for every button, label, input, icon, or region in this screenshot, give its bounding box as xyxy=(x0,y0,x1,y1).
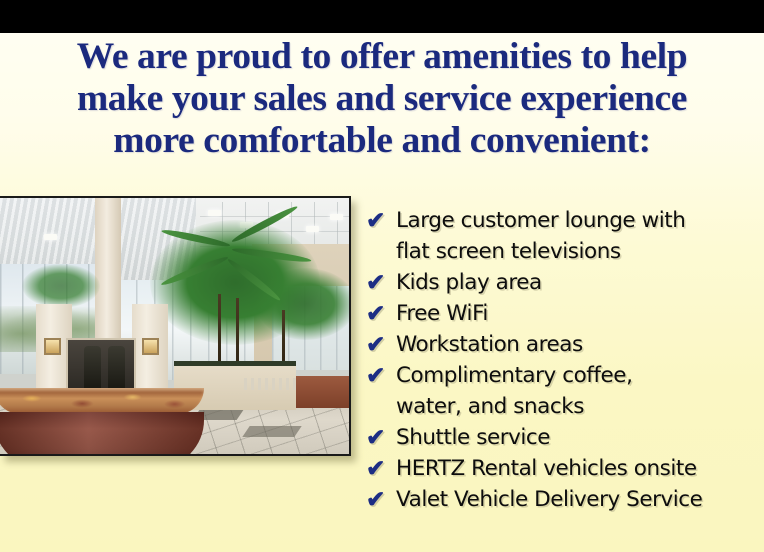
list-item: ✔ Complimentary coffee, water, and snack… xyxy=(366,360,764,422)
check-icon: ✔ xyxy=(366,422,396,453)
page-title: We are proud to offer amenities to help … xyxy=(0,36,764,162)
page-title-line-1: We are proud to offer amenities to help xyxy=(4,36,760,78)
ceiling-light-icon xyxy=(306,226,319,232)
list-item: ✔ Valet Vehicle Delivery Service xyxy=(366,484,764,515)
list-item: ✔ Shuttle service xyxy=(366,422,764,453)
list-item: ✔ Free WiFi xyxy=(366,298,764,329)
lobby-photo-image xyxy=(0,198,349,454)
list-item: ✔ Workstation areas xyxy=(366,329,764,360)
palm-trunk xyxy=(236,298,239,370)
page-title-line-3: more comfortable and convenient: xyxy=(4,120,760,162)
palm-tree-far xyxy=(256,268,349,340)
slide-canvas: We are proud to offer amenities to help … xyxy=(0,0,764,552)
list-item-label: Workstation areas xyxy=(396,329,764,360)
palm-trunk xyxy=(218,294,221,370)
ceiling-light-icon xyxy=(44,234,57,240)
decor-vase xyxy=(84,346,101,390)
check-icon: ✔ xyxy=(366,484,396,515)
list-item-label: Complimentary coffee, water, and snacks xyxy=(396,360,764,422)
check-icon: ✔ xyxy=(366,267,396,298)
list-item-label: Free WiFi xyxy=(396,298,764,329)
list-item-label: Large customer lounge with flat screen t… xyxy=(396,205,764,267)
list-item: ✔ Kids play area xyxy=(366,267,764,298)
list-item: ✔ Large customer lounge with flat screen… xyxy=(366,205,764,267)
check-icon: ✔ xyxy=(366,453,396,484)
palm-tree-left xyxy=(22,264,100,308)
check-icon: ✔ xyxy=(366,298,396,329)
reception-desk-base xyxy=(0,412,204,454)
list-item: ✔ HERTZ Rental vehicles onsite xyxy=(366,453,764,484)
wall-sconce-icon xyxy=(142,338,159,355)
amenities-list: ✔ Large customer lounge with flat screen… xyxy=(366,205,764,515)
list-item-label: HERTZ Rental vehicles onsite xyxy=(396,453,764,484)
structural-column xyxy=(95,198,121,338)
palm-trunk xyxy=(282,310,285,368)
wall-sconce-icon xyxy=(44,338,61,355)
check-icon: ✔ xyxy=(366,205,396,236)
list-item-label: Kids play area xyxy=(396,267,764,298)
check-icon: ✔ xyxy=(366,360,396,391)
lobby-photo xyxy=(0,196,351,456)
top-black-band xyxy=(0,0,764,33)
decor-vase xyxy=(108,346,125,390)
ceiling-light-icon xyxy=(330,214,343,220)
floor-accent-tile xyxy=(242,426,301,437)
far-railing xyxy=(244,378,302,390)
ceiling-light-icon xyxy=(208,210,221,216)
far-counter xyxy=(296,376,349,408)
page-title-line-2: make your sales and service experience xyxy=(4,78,760,120)
reception-desk-counter xyxy=(0,388,204,414)
list-item-label: Valet Vehicle Delivery Service xyxy=(396,484,764,515)
mirror-alcove xyxy=(66,338,136,394)
list-item-label: Shuttle service xyxy=(396,422,764,453)
check-icon: ✔ xyxy=(366,329,396,360)
